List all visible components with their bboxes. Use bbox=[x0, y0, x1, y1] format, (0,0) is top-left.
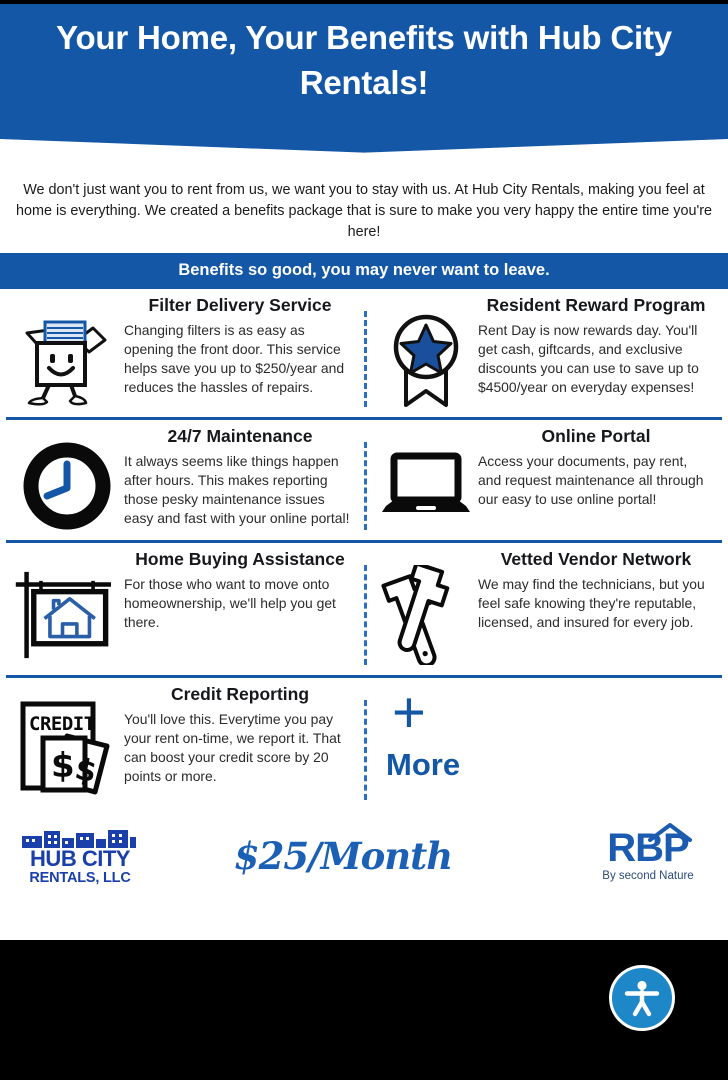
benefit-body: Rent Day is now rewards day. You'll get … bbox=[478, 321, 714, 398]
more-label: More bbox=[386, 747, 460, 783]
benefit-text-block: Filter Delivery Service Changing filters… bbox=[120, 295, 356, 409]
benefit-body: Access your documents, pay rent, and req… bbox=[478, 452, 714, 510]
screenshot-root: Your Home, Your Benefits with Hub City R… bbox=[0, 0, 728, 1080]
pipe-wrench-icon bbox=[378, 549, 474, 667]
clock-icon bbox=[14, 426, 120, 532]
benefit-text-block: 24/7 Maintenance It always seems like th… bbox=[120, 426, 356, 532]
svg-text:CREDIT: CREDIT bbox=[29, 713, 95, 735]
benefit-title: Credit Reporting bbox=[124, 684, 356, 705]
rbp-logo: RBP By second Nature bbox=[582, 828, 714, 883]
benefit-card-resident-reward-program: Resident Reward Program Rent Day is now … bbox=[364, 289, 722, 417]
benefit-title: Home Buying Assistance bbox=[124, 549, 356, 570]
benefit-body: Changing filters is as easy as opening t… bbox=[124, 321, 356, 398]
benefit-text-block: Vetted Vendor Network We may find the te… bbox=[474, 549, 714, 667]
plus-icon: + bbox=[392, 692, 426, 734]
laptop-icon bbox=[378, 426, 474, 532]
skyline-icon bbox=[16, 826, 138, 848]
benefit-text-block: Credit Reporting You'll love this. Every… bbox=[120, 684, 356, 802]
more-benefits-block: + More bbox=[364, 678, 722, 810]
benefit-card-vetted-vendor-network: Vetted Vendor Network We may find the te… bbox=[364, 543, 722, 675]
benefit-title: Online Portal bbox=[478, 426, 714, 447]
benefit-body: You'll love this. Everytime you pay your… bbox=[124, 710, 356, 787]
benefit-title: 24/7 Maintenance bbox=[124, 426, 356, 447]
column-divider bbox=[364, 700, 367, 800]
hub-city-rentals-logo: HUB CITY RENTALS, LLC bbox=[16, 826, 144, 886]
benefit-text-block: Online Portal Access your documents, pay… bbox=[474, 426, 714, 532]
benefit-title: Filter Delivery Service bbox=[124, 295, 356, 316]
hub-logo-line-2: RENTALS, LLC bbox=[16, 871, 144, 886]
header-chevron-notch bbox=[0, 139, 728, 175]
benefit-card-home-buying-assistance: Home Buying Assistance For those who wan… bbox=[6, 543, 364, 675]
benefits-flyer: Your Home, Your Benefits with Hub City R… bbox=[0, 4, 728, 940]
benefit-card-filter-delivery-service: Filter Delivery Service Changing filters… bbox=[6, 289, 364, 417]
benefit-body: It always seems like things happen after… bbox=[124, 452, 356, 529]
filter-box-character-icon bbox=[14, 295, 120, 409]
benefit-card-credit-reporting: CREDIT $ $ Credit Reporting You'll love … bbox=[6, 678, 364, 810]
benefit-text-block: Home Buying Assistance For those who wan… bbox=[120, 549, 356, 667]
benefit-text-block: Resident Reward Program Rent Day is now … bbox=[474, 295, 714, 409]
accessibility-icon bbox=[622, 978, 662, 1018]
flyer-footer: HUB CITY RENTALS, LLC $25/Month RBP By s… bbox=[0, 810, 728, 902]
accessibility-widget-button[interactable] bbox=[609, 965, 675, 1031]
benefit-body: We may find the technicians, but you fee… bbox=[478, 575, 714, 633]
page-title: Your Home, Your Benefits with Hub City R… bbox=[26, 16, 702, 106]
star-ribbon-award-icon bbox=[378, 295, 474, 409]
rbp-mark: RBP bbox=[607, 828, 688, 868]
benefit-card-24-7-maintenance: 24/7 Maintenance It always seems like th… bbox=[6, 420, 364, 540]
benefits-row: Home Buying Assistance For those who wan… bbox=[6, 543, 722, 678]
credit-report-dollar-icon: CREDIT $ $ bbox=[14, 684, 120, 802]
benefits-row: Filter Delivery Service Changing filters… bbox=[6, 289, 722, 420]
hub-logo-line-1: HUB CITY bbox=[16, 848, 144, 870]
svg-text:$: $ bbox=[51, 746, 75, 786]
benefit-card-online-portal: Online Portal Access your documents, pay… bbox=[364, 420, 722, 540]
benefit-title: Resident Reward Program bbox=[478, 295, 714, 316]
benefits-grid: Filter Delivery Service Changing filters… bbox=[0, 289, 728, 810]
benefits-row: CREDIT $ $ Credit Reporting You'll love … bbox=[6, 678, 722, 810]
roof-icon bbox=[647, 821, 693, 843]
intro-paragraph: We don't just want you to rent from us, … bbox=[0, 174, 728, 253]
flyer-header: Your Home, Your Benefits with Hub City R… bbox=[0, 4, 728, 174]
yard-sign-house-icon bbox=[14, 549, 120, 667]
benefit-body: For those who want to move onto homeowne… bbox=[124, 575, 356, 633]
benefits-row: 24/7 Maintenance It always seems like th… bbox=[6, 420, 722, 543]
tagline-band: Benefits so good, you may never want to … bbox=[0, 253, 728, 289]
rbp-tagline: By second Nature bbox=[582, 871, 714, 883]
price-label: $25/Month bbox=[144, 834, 582, 878]
benefit-title: Vetted Vendor Network bbox=[478, 549, 714, 570]
